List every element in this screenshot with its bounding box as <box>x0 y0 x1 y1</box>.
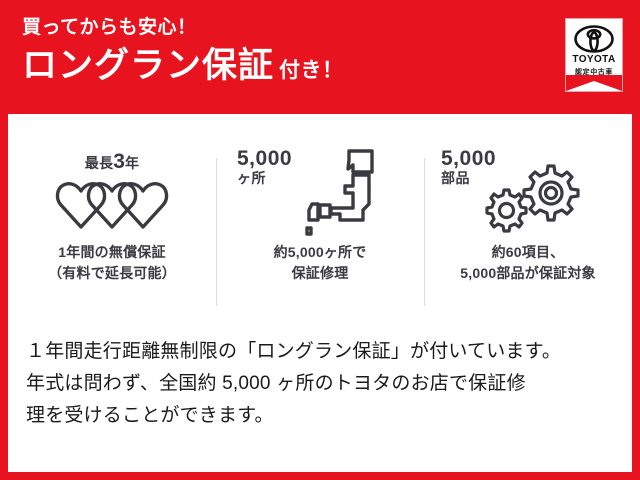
panel-service-locations-caption-line2: 保証修理 <box>274 263 367 284</box>
panel-covered-parts: 5,000 部品 <box>424 144 632 319</box>
panel-warranty-term-caption: 1年間の無償保証 （有料で延長可能） <box>48 242 176 284</box>
description-line-2: 年式は問わず、全国約 5,000 ヶ所のトヨタのお店で保証修 <box>26 368 621 400</box>
japan-map-icon <box>303 148 377 238</box>
description-line-1: １年間走行距離無制限の「ロングラン保証」が付いています。 <box>26 336 621 368</box>
panel-covered-parts-caption-line2: 5,000部品が保証対象 <box>460 263 595 284</box>
panel-covered-parts-caption: 約60項目、 5,000部品が保証対象 <box>460 242 595 284</box>
panel-service-locations-caption: 約5,000ヶ所で 保証修理 <box>274 242 367 284</box>
service-locations-label: 5,000 ヶ所 <box>237 148 292 187</box>
toyota-certified-used-car-logo: TOYOTA 認定中古車 <box>565 18 623 92</box>
warranty-term-prefix: 最長 <box>85 155 114 171</box>
panel-covered-parts-graphic: 5,000 部品 <box>433 144 623 239</box>
panel-service-locations-caption-line1: 約5,000ヶ所で <box>274 242 367 263</box>
description-paragraph: １年間走行距離無制限の「ロングラン保証」が付いています。 年式は問わず、全国約 … <box>26 336 621 432</box>
gears-icon <box>479 162 583 238</box>
header-headline-main: ロングラン保証 <box>22 46 274 85</box>
description-line-3: 理を受けることができます。 <box>26 400 621 432</box>
panel-service-locations-graphic: 5,000 ヶ所 <box>225 144 415 239</box>
service-locations-number: 5,000 <box>237 148 292 170</box>
header-text-block: 買ってからも安心！ ロングラン保証付き！ <box>22 16 344 93</box>
header-band: 買ってからも安心！ ロングラン保証付き！ TOYOTA 認定中古車 <box>0 0 640 112</box>
header-headline-suffix: 付き！ <box>279 59 344 82</box>
three-hearts-icon <box>54 174 170 232</box>
promo-banner: 買ってからも安心！ ロングラン保証付き！ TOYOTA 認定中古車 <box>0 0 640 480</box>
warranty-term-number: 3 <box>113 150 125 173</box>
toyota-emblem-icon <box>574 25 614 53</box>
panel-covered-parts-caption-line1: 約60項目、 <box>460 242 595 263</box>
content-card: 最長3年 1年間の無償保証 （有料で延長可能） <box>8 114 632 472</box>
service-locations-unit: ヶ所 <box>237 170 292 187</box>
panel-warranty-term-graphic: 最長3年 <box>17 144 207 239</box>
logo-chevron-icon <box>566 75 622 91</box>
panel-warranty-term-caption-line2: （有料で延長可能） <box>48 263 176 284</box>
toyota-wordmark: TOYOTA <box>572 54 615 65</box>
feature-panel-row: 最長3年 1年間の無償保証 （有料で延長可能） <box>8 144 632 319</box>
warranty-term-suffix: 年 <box>125 155 139 171</box>
warranty-term-label: 最長3年 <box>17 150 207 174</box>
header-headline: ロングラン保証付き！ <box>22 46 344 93</box>
panel-service-locations: 5,000 ヶ所 <box>216 144 424 319</box>
header-tagline: 買ってからも安心！ <box>22 16 344 40</box>
panel-warranty-term: 最長3年 1年間の無償保証 （有料で延長可能） <box>8 144 216 319</box>
panel-warranty-term-caption-line1: 1年間の無償保証 <box>48 242 176 263</box>
